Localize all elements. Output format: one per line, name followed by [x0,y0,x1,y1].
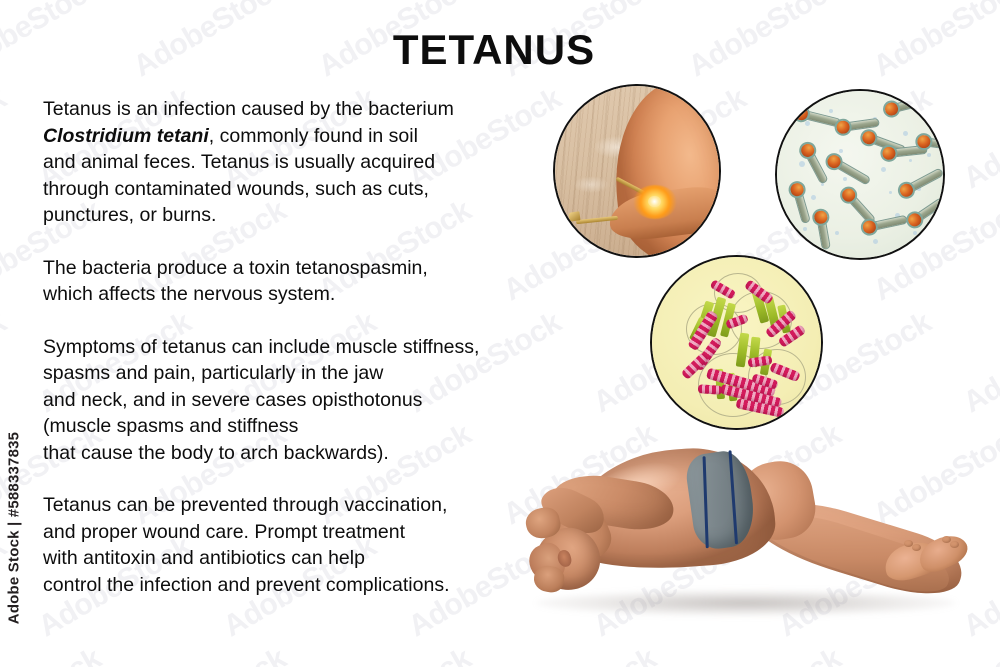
definition-line-2: Clostridium tetani, commonly found in so… [43,123,543,150]
watermark-tile: AdobeStock [313,642,477,667]
symptoms-line-4: (muscle spasms and stiffness [43,413,543,440]
watermark-tile: AdobeStock [498,642,662,667]
stock-credit-watermark: Adobe Stock | #588337835 [2,415,26,640]
tetanospasmin-molecule-model [650,255,823,430]
protein-alpha-helix [698,384,723,395]
micrograph-speckle [811,195,816,200]
stock-credit-text: Adobe Stock | #588337835 [6,431,23,623]
prevention-line-2: and proper wound care. Prompt treatment [43,519,543,546]
watermark-tile: AdobeStock [868,642,1000,667]
micrograph-speckle [881,167,886,172]
figure-toe-d [950,541,959,548]
watermark-tile: AdobeStock [0,82,12,196]
infographic-page: AdobeStockAdobeStockAdobeStockAdobeStock… [0,0,1000,667]
paragraph-toxin: The bacteria produce a toxin tetanospasm… [43,255,543,308]
micrograph-speckle [835,231,839,235]
micrograph-speckle [889,191,892,194]
micrograph-speckle [913,231,917,235]
micrograph-speckle [803,227,807,231]
definition-line-2-rest: , commonly found in soil [209,125,418,147]
shorts-stripe-b [728,450,737,544]
watermark-tile: AdobeStock [0,642,107,667]
micrograph-speckle [829,109,833,113]
watermark-tile: AdobeStock [958,306,1000,420]
micrograph-speckle [909,159,912,162]
page-title-text: TETANUS [393,26,595,74]
micrograph-speckle [843,177,847,181]
prevention-line-1: Tetanus can be prevented through vaccina… [43,492,543,519]
definition-line-4: through contaminated wounds, such as cut… [43,176,543,203]
micrograph-speckle [903,131,908,136]
clostridium-tetani-micrograph [775,89,945,260]
definition-line-5: punctures, or burns. [43,202,543,229]
micrograph-speckle [873,239,878,244]
nail-head [568,211,580,221]
watermark-tile: AdobeStock [683,642,847,667]
prevention-line-3: with antitoxin and antibiotics can help [43,545,543,572]
micrograph-speckle [839,149,843,153]
wound-glow-core [648,196,661,207]
paragraph-symptoms: Symptoms of tetanus can include muscle s… [43,334,543,467]
watermark-tile: AdobeStock [0,306,12,420]
micrograph-speckle [805,121,810,126]
shorts-stripe-a [703,456,709,548]
watermark-tile: AdobeStock [958,82,1000,196]
page-title: TETANUS [0,26,1000,74]
symptoms-line-5: that cause the body to arch backwards). [43,440,543,467]
symptoms-line-3: and neck, and in severe cases opisthoton… [43,387,543,414]
figure-ground-shadow [536,590,956,616]
paragraph-prevention: Tetanus can be prevented through vaccina… [43,492,543,598]
toxin-line-2: which affects the nervous system. [43,281,543,308]
toxin-line-1: The bacteria produce a toxin tetanospasm… [43,255,543,282]
watermark-tile: AdobeStock [128,642,292,667]
opisthotonus-body-arch-model [512,440,1000,640]
symptoms-line-1: Symptoms of tetanus can include muscle s… [43,334,543,361]
micrograph-speckle [799,161,805,167]
prevention-line-4: control the infection and prevent compli… [43,572,543,599]
nail-puncture-wound-photo [553,84,721,258]
paragraph-definition: Tetanus is an infection caused by the ba… [43,96,543,229]
symptoms-line-2: spasms and pain, particularly in the jaw [43,360,543,387]
definition-line-3: and animal feces. Tetanus is usually acq… [43,149,543,176]
definition-line-1: Tetanus is an infection caused by the ba… [43,96,543,123]
figure-toe-b [912,544,921,551]
body-copy: Tetanus is an infection caused by the ba… [43,96,543,598]
scientific-name: Clostridium tetani [43,125,209,147]
micrograph-speckle [927,153,931,157]
